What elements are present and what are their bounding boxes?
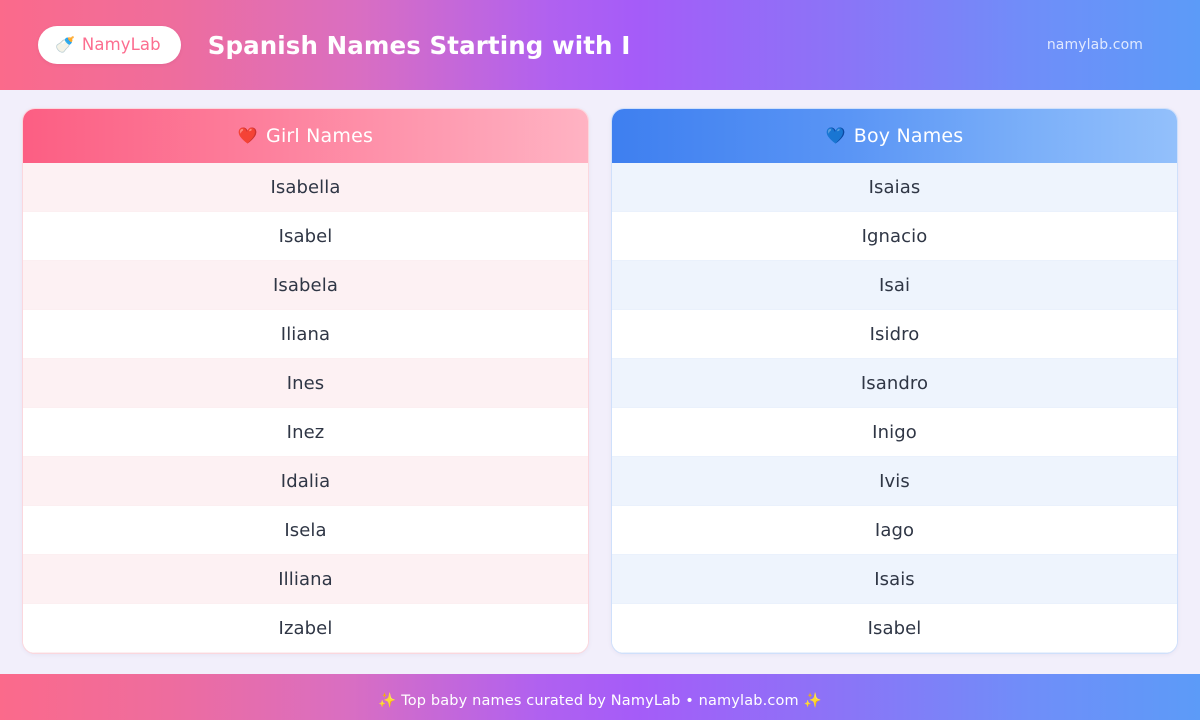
page-footer: ✨ Top baby names curated by NamyLab • na… (0, 674, 1200, 720)
list-item[interactable]: Isabel (23, 212, 588, 261)
footer-credit-label: ✨ Top baby names curated by NamyLab • na… (378, 692, 822, 709)
name-label: Ines (287, 373, 325, 394)
girl-names-list: Isabella Isabel Isabela Iliana Ines Inez… (23, 163, 588, 653)
boy-names-list: Isaias Ignacio Isai Isidro Isandro Inigo… (612, 163, 1177, 653)
site-url-label: namylab.com (1047, 37, 1172, 53)
name-label: Isabel (868, 618, 922, 639)
boy-names-heading-label: Boy Names (854, 125, 964, 147)
name-label: Isaias (869, 177, 921, 198)
list-item[interactable]: Isabella (23, 163, 588, 212)
girl-names-header: ❤️ Girl Names (23, 109, 588, 163)
list-item[interactable]: Isai (612, 261, 1177, 310)
page-title: Spanish Names Starting with I (208, 31, 631, 60)
list-item[interactable]: Izabel (23, 604, 588, 653)
list-item[interactable]: Isais (612, 555, 1177, 604)
name-label: Isai (879, 275, 910, 296)
page-header: 🍼 NamyLab Spanish Names Starting with I … (0, 0, 1200, 90)
list-item[interactable]: Isaias (612, 163, 1177, 212)
brand-badge[interactable]: 🍼 NamyLab (38, 26, 181, 64)
name-label: Isidro (870, 324, 920, 345)
name-label: Iliana (281, 324, 330, 345)
list-item[interactable]: Isela (23, 506, 588, 555)
list-item[interactable]: Isidro (612, 310, 1177, 359)
name-label: Ivis (879, 471, 910, 492)
list-item[interactable]: Isandro (612, 359, 1177, 408)
name-label: Isabel (279, 226, 333, 247)
name-label: Illiana (278, 569, 332, 590)
name-label: Izabel (279, 618, 333, 639)
name-label: Inigo (872, 422, 917, 443)
girl-names-heading-label: Girl Names (266, 125, 373, 147)
baby-bottle-icon: 🍼 (55, 37, 75, 53)
list-item[interactable]: Inigo (612, 408, 1177, 457)
name-label: Inez (287, 422, 325, 443)
list-item[interactable]: Illiana (23, 555, 588, 604)
boy-names-card: 💙 Boy Names Isaias Ignacio Isai Isidro I… (611, 108, 1178, 654)
list-item[interactable]: Ivis (612, 457, 1177, 506)
name-label: Ignacio (862, 226, 928, 247)
name-label: Isais (874, 569, 915, 590)
brand-name-label: NamyLab (82, 35, 161, 54)
name-label: Iago (875, 520, 914, 541)
list-item[interactable]: Ignacio (612, 212, 1177, 261)
name-label: Isandro (861, 373, 928, 394)
heart-icon: ❤️ (238, 128, 258, 144)
name-label: Idalia (281, 471, 330, 492)
list-item[interactable]: Idalia (23, 457, 588, 506)
boy-names-header: 💙 Boy Names (612, 109, 1177, 163)
name-label: Isabela (273, 275, 338, 296)
list-item[interactable]: Iago (612, 506, 1177, 555)
list-item[interactable]: Ines (23, 359, 588, 408)
heart-icon: 💙 (826, 128, 846, 144)
list-item[interactable]: Iliana (23, 310, 588, 359)
name-label: Isabella (270, 177, 340, 198)
list-item[interactable]: Inez (23, 408, 588, 457)
name-label: Isela (284, 520, 326, 541)
girl-names-card: ❤️ Girl Names Isabella Isabel Isabela Il… (22, 108, 589, 654)
names-columns-container: ❤️ Girl Names Isabella Isabel Isabela Il… (0, 90, 1200, 674)
list-item[interactable]: Isabela (23, 261, 588, 310)
list-item[interactable]: Isabel (612, 604, 1177, 653)
